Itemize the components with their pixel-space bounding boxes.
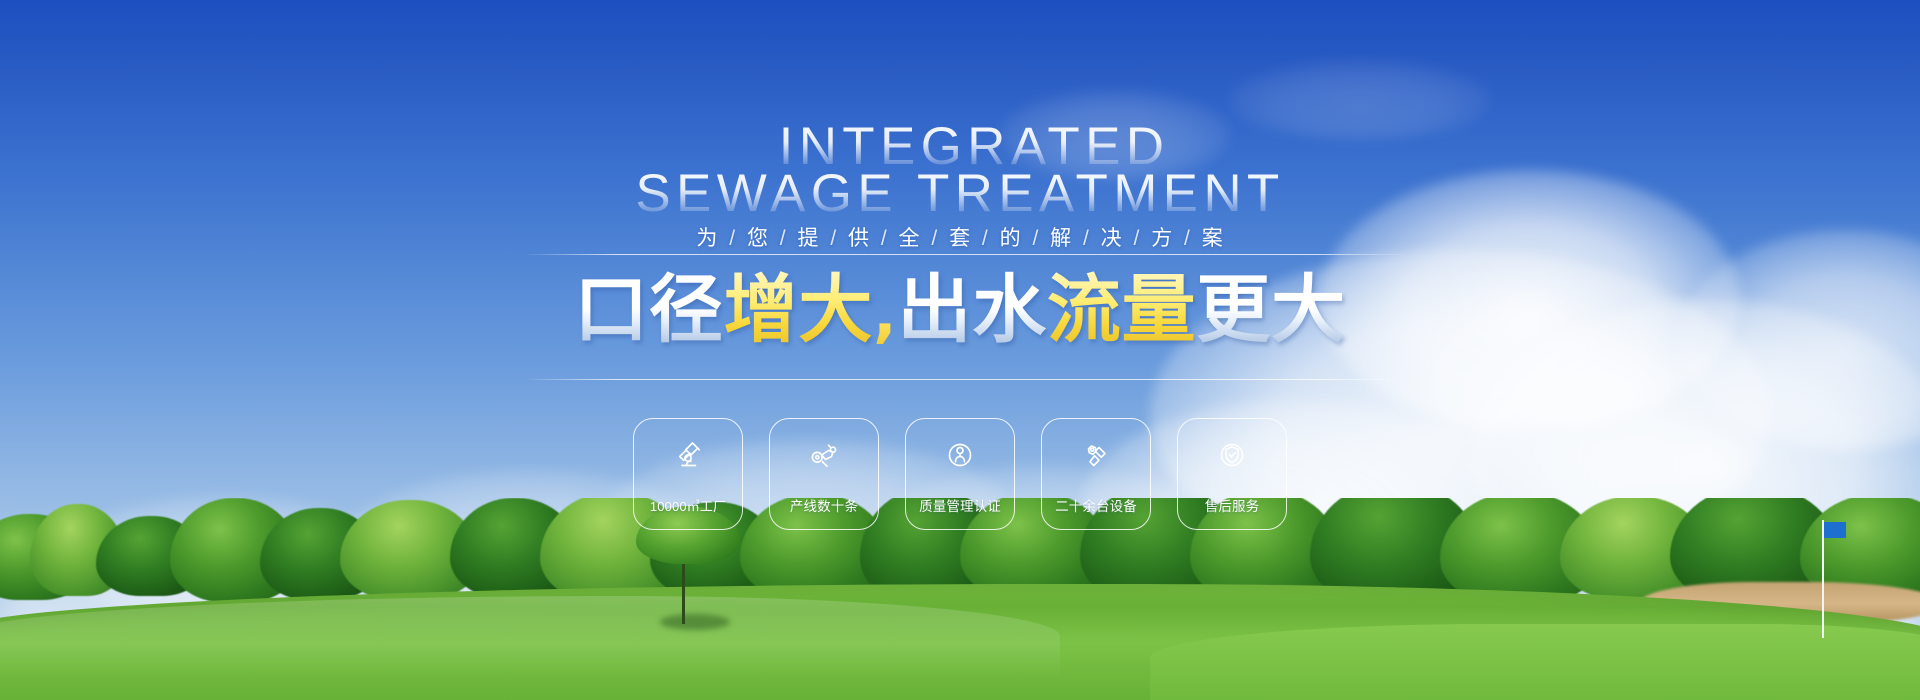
feature-badge-label: 10000㎡工厂 (634, 496, 742, 515)
feature-badge-quality-certification[interactable]: 质量管理认证 (905, 418, 1015, 530)
subtitle-char: 方 (1151, 227, 1173, 250)
subtitle-row: 为/您/提/供/全/套/的/解/决/方/案 (0, 222, 1920, 252)
subtitle-separator: / (982, 227, 989, 250)
feature-badge-label: 产线数十条 (770, 495, 878, 515)
subtitle-char: 供 (848, 227, 870, 250)
subtitle-text: 为/您/提/供/全/套/的/解/决/方/案 (689, 222, 1230, 252)
subtitle-separator: / (881, 227, 888, 250)
feature-badge-label: 售后服务 (1178, 495, 1286, 515)
subtitle-char: 的 (1000, 227, 1022, 250)
headline-segment: 流量 (1047, 267, 1196, 353)
subtitle-char: 决 (1101, 227, 1123, 250)
subtitle-char: 全 (899, 227, 921, 250)
equipment-bolt-icon (1076, 435, 1116, 475)
headline-segment: 增大 (724, 267, 873, 353)
feature-badge-after-sales[interactable]: 售后服务 (1177, 418, 1287, 530)
headline-segment: 出水 (897, 267, 1046, 353)
feature-badge-factory-area[interactable]: 10000㎡工厂 (633, 418, 743, 530)
subtitle-char: 解 (1050, 227, 1072, 250)
subtitle-char: 为 (696, 227, 718, 250)
subtitle-char: 提 (797, 227, 819, 250)
feature-badge-label: 质量管理认证 (906, 495, 1014, 515)
quality-person-icon (940, 435, 980, 475)
feature-badge-production-lines[interactable]: 产线数十条 (769, 418, 879, 530)
divider-bottom (528, 379, 1404, 380)
subtitle-char: 案 (1202, 227, 1224, 250)
divider-top (528, 254, 1404, 255)
feature-badge-list: 10000㎡工厂 产线数十条 (0, 418, 1920, 530)
english-headline-line2: SEWAGE TREATMENT (0, 167, 1920, 220)
hero-banner: INTEGRATED SEWAGE TREATMENT 为/您/提/供/全/套/… (0, 0, 1920, 700)
headline-segment: , (873, 277, 897, 350)
subtitle-separator: / (830, 227, 837, 250)
main-headline-text: 口径增大,出水流量更大 (574, 272, 1346, 350)
feature-badge-equipment-count[interactable]: 二十余台设备 (1041, 418, 1151, 530)
subtitle-separator: / (1184, 227, 1191, 250)
subtitle-char: 您 (747, 227, 769, 250)
subtitle-separator: / (1134, 227, 1141, 250)
headline-segment: 更大 (1196, 267, 1345, 353)
subtitle-separator: / (729, 227, 736, 250)
shield-check-icon (1212, 435, 1252, 475)
microscope-icon (668, 435, 708, 475)
banner-content: INTEGRATED SEWAGE TREATMENT 为/您/提/供/全/套/… (0, 0, 1920, 700)
subtitle-separator: / (1083, 227, 1090, 250)
subtitle-separator: / (1032, 227, 1039, 250)
english-headline: INTEGRATED SEWAGE TREATMENT (0, 120, 1920, 220)
feature-badge-label: 二十余台设备 (1042, 495, 1150, 515)
production-line-icon (804, 435, 844, 475)
subtitle-char: 套 (949, 227, 971, 250)
subtitle-separator: / (931, 227, 938, 250)
main-headline: 口径增大,出水流量更大 (0, 272, 1920, 350)
headline-segment: 口径 (574, 267, 723, 353)
subtitle-separator: / (780, 227, 787, 250)
